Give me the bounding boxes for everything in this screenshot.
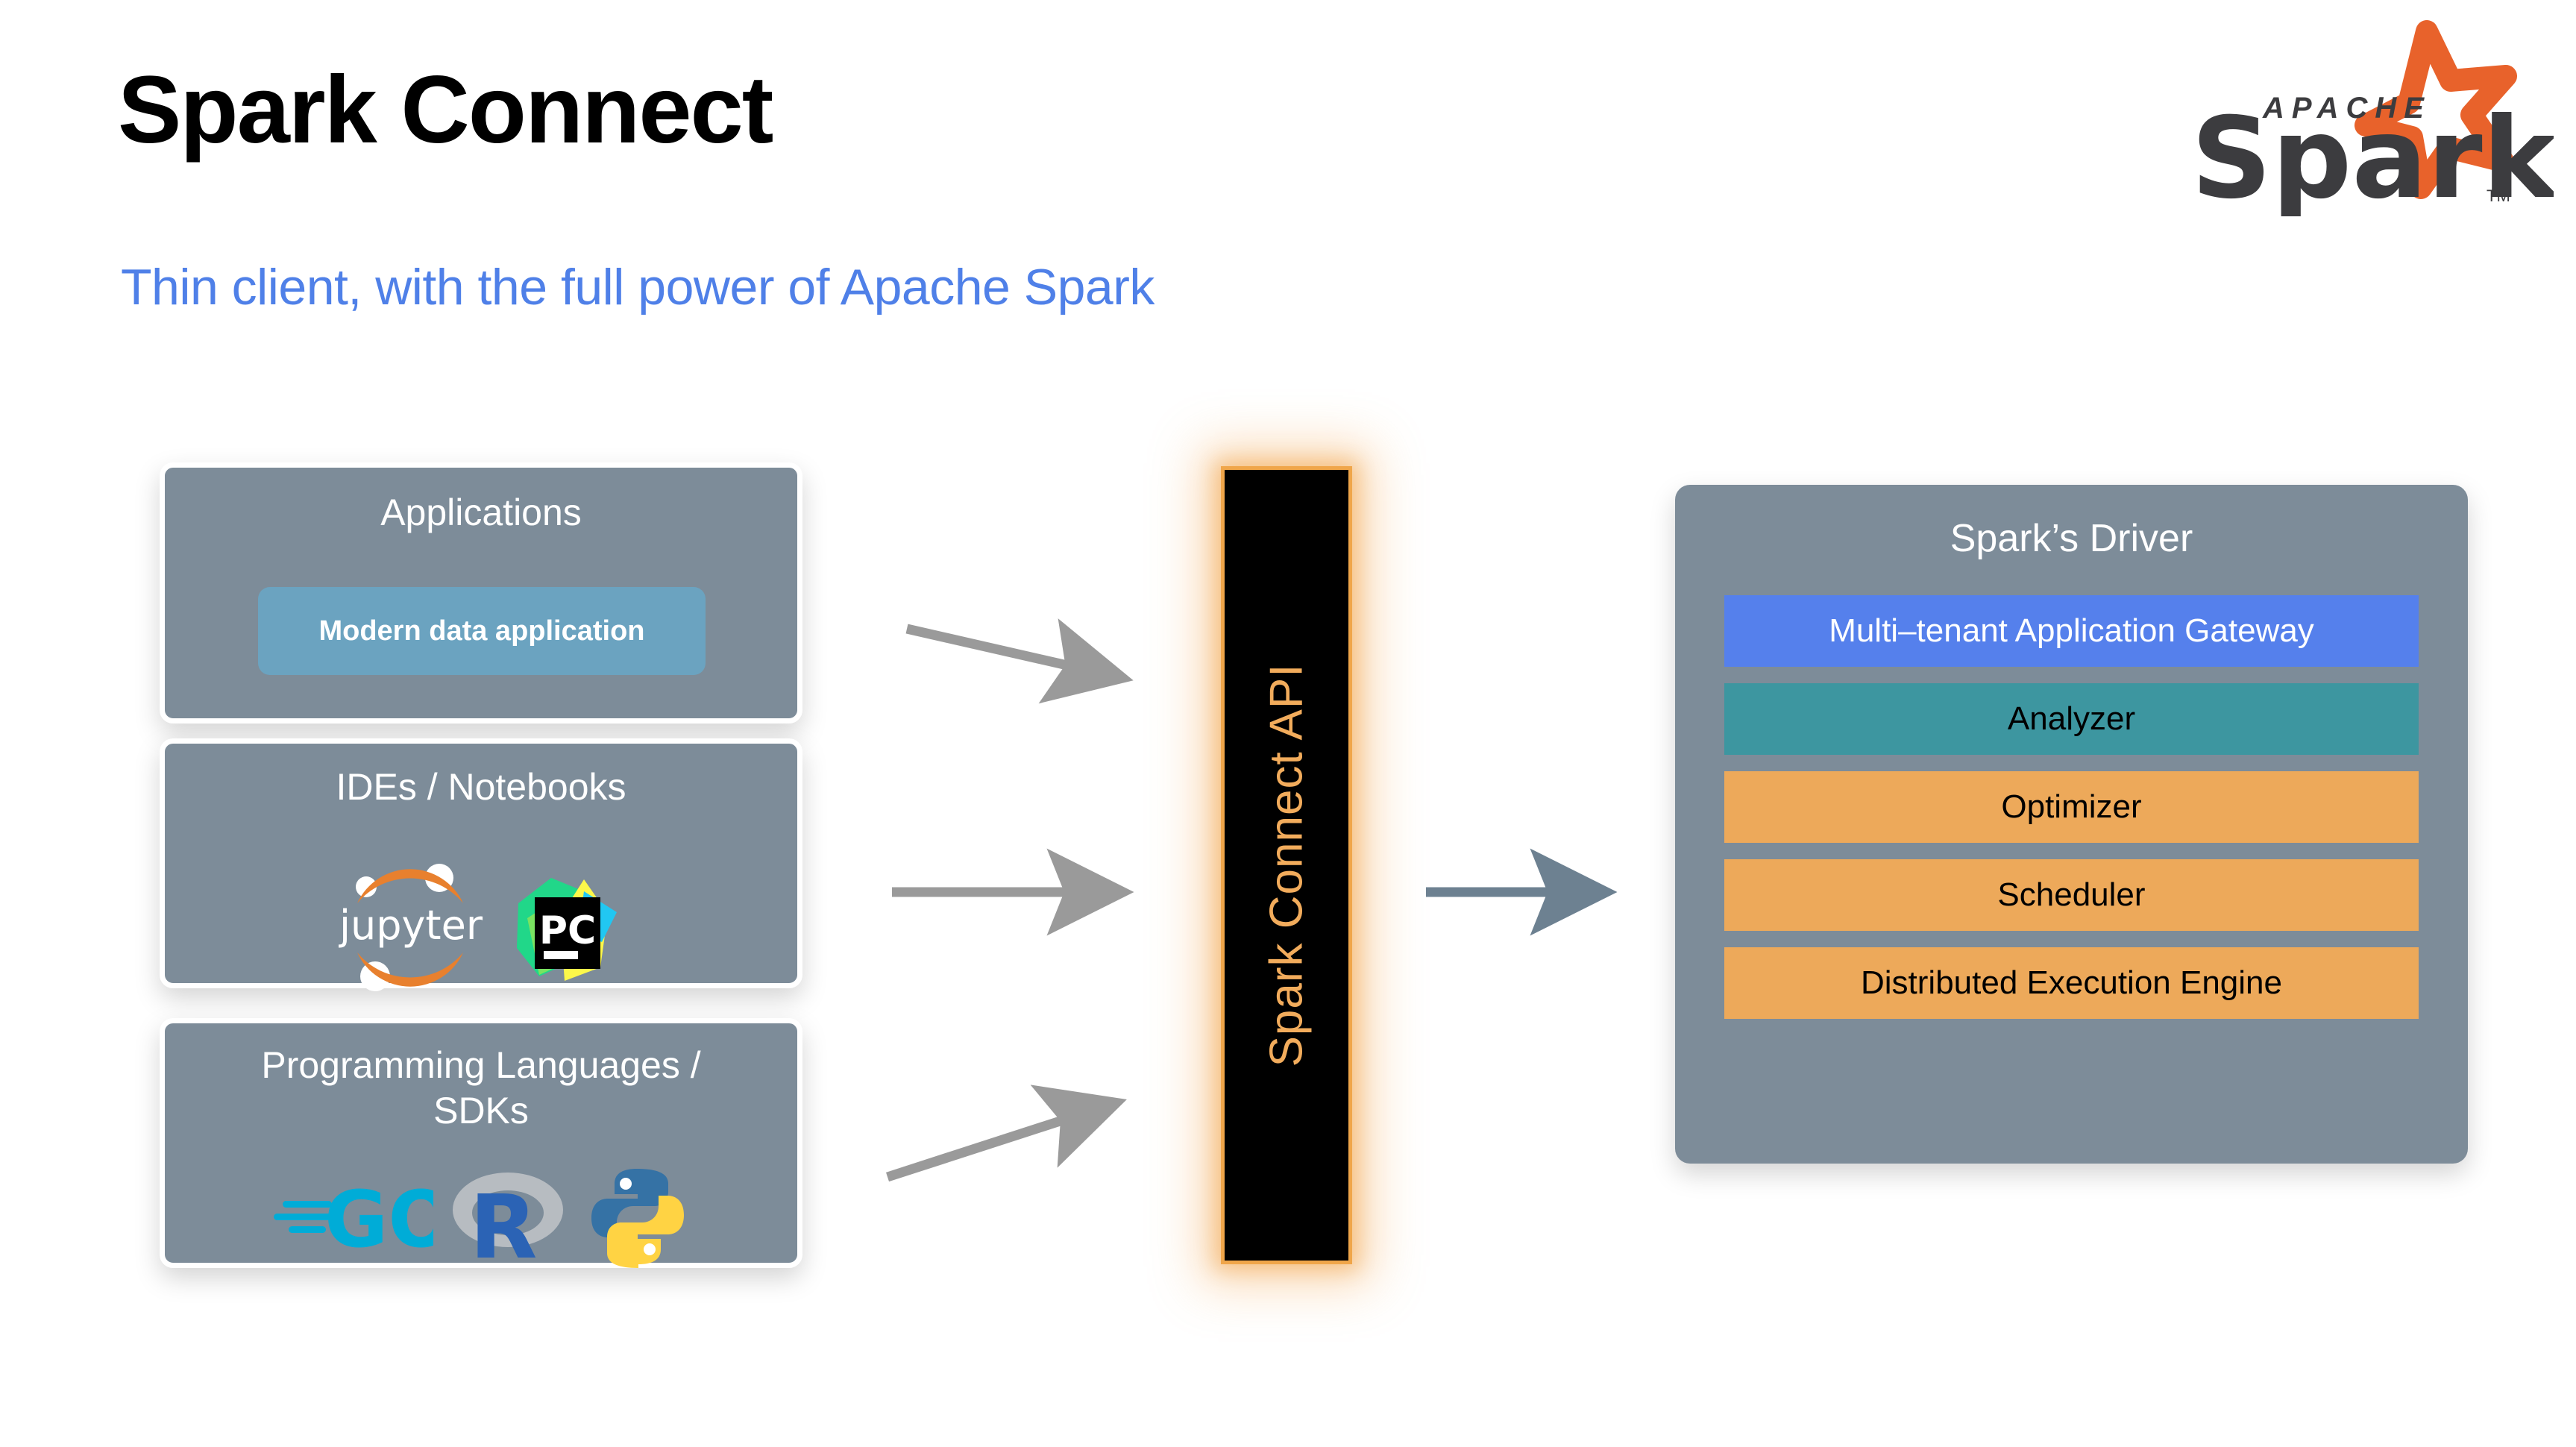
client-box-ides-notebooks[interactable]: IDEs / Notebooks jupyter jupyter bbox=[160, 738, 802, 988]
driver-row-multi-tenant-application-gateway[interactable]: Multi–tenant Application Gateway bbox=[1724, 595, 2419, 667]
client-box-programming-languages-title: Programming Languages / SDKs bbox=[165, 1043, 797, 1134]
svg-text:R: R bbox=[470, 1176, 538, 1269]
languages-title-line2: SDKs bbox=[165, 1088, 797, 1134]
client-box-programming-languages[interactable]: Programming Languages / SDKs GO GO bbox=[160, 1018, 802, 1268]
languages-title-line1: Programming Languages / bbox=[165, 1043, 797, 1088]
svg-text:jupyter: jupyter bbox=[339, 902, 483, 949]
spark-connect-api-label: Spark Connect API bbox=[1260, 664, 1313, 1067]
svg-text:TM: TM bbox=[2487, 186, 2510, 205]
client-box-applications-title: Applications bbox=[165, 490, 797, 536]
driver-row-analyzer[interactable]: Analyzer bbox=[1724, 683, 2419, 755]
ide-logo-row: jupyter jupyter PC PC bbox=[165, 861, 797, 996]
modern-data-application-chip[interactable]: Modern data application bbox=[258, 587, 706, 675]
client-box-applications[interactable]: Applications Modern data application bbox=[160, 462, 802, 723]
spark-driver-panel[interactable]: Spark’s Driver Multi–tenant Application … bbox=[1675, 485, 2468, 1164]
language-logo-row: GO GO R R p bbox=[165, 1164, 797, 1273]
arrow-applications-to-api bbox=[907, 629, 1110, 675]
jupyter-icon: jupyter jupyter bbox=[338, 861, 487, 996]
slide-canvas: Spark Connect Thin client, with the full… bbox=[0, 0, 2576, 1447]
pycharm-icon: PC PC bbox=[512, 869, 624, 989]
svg-text:PC: PC bbox=[539, 908, 596, 953]
spark-driver-row-list: Multi–tenant Application Gateway Analyze… bbox=[1724, 595, 2419, 1019]
driver-row-optimizer[interactable]: Optimizer bbox=[1724, 771, 2419, 843]
spark-driver-title: Spark’s Driver bbox=[1675, 516, 2468, 561]
page-title: Spark Connect bbox=[118, 58, 772, 163]
r-icon: R R bbox=[450, 1164, 569, 1273]
client-box-ides-notebooks-title: IDEs / Notebooks bbox=[165, 765, 797, 810]
python-icon: python bbox=[585, 1164, 690, 1272]
arrow-languages-to-api bbox=[888, 1107, 1104, 1177]
go-icon: GO GO bbox=[272, 1173, 433, 1264]
apache-spark-logo: APACHE Spark TM bbox=[2158, 15, 2554, 216]
driver-row-distributed-execution-engine[interactable]: Distributed Execution Engine bbox=[1724, 947, 2419, 1019]
page-subtitle: Thin client, with the full power of Apac… bbox=[121, 260, 1155, 316]
driver-row-scheduler[interactable]: Scheduler bbox=[1724, 859, 2419, 931]
spark-connect-api-bar[interactable]: Spark Connect API bbox=[1221, 466, 1352, 1264]
svg-text:GO: GO bbox=[324, 1174, 433, 1261]
